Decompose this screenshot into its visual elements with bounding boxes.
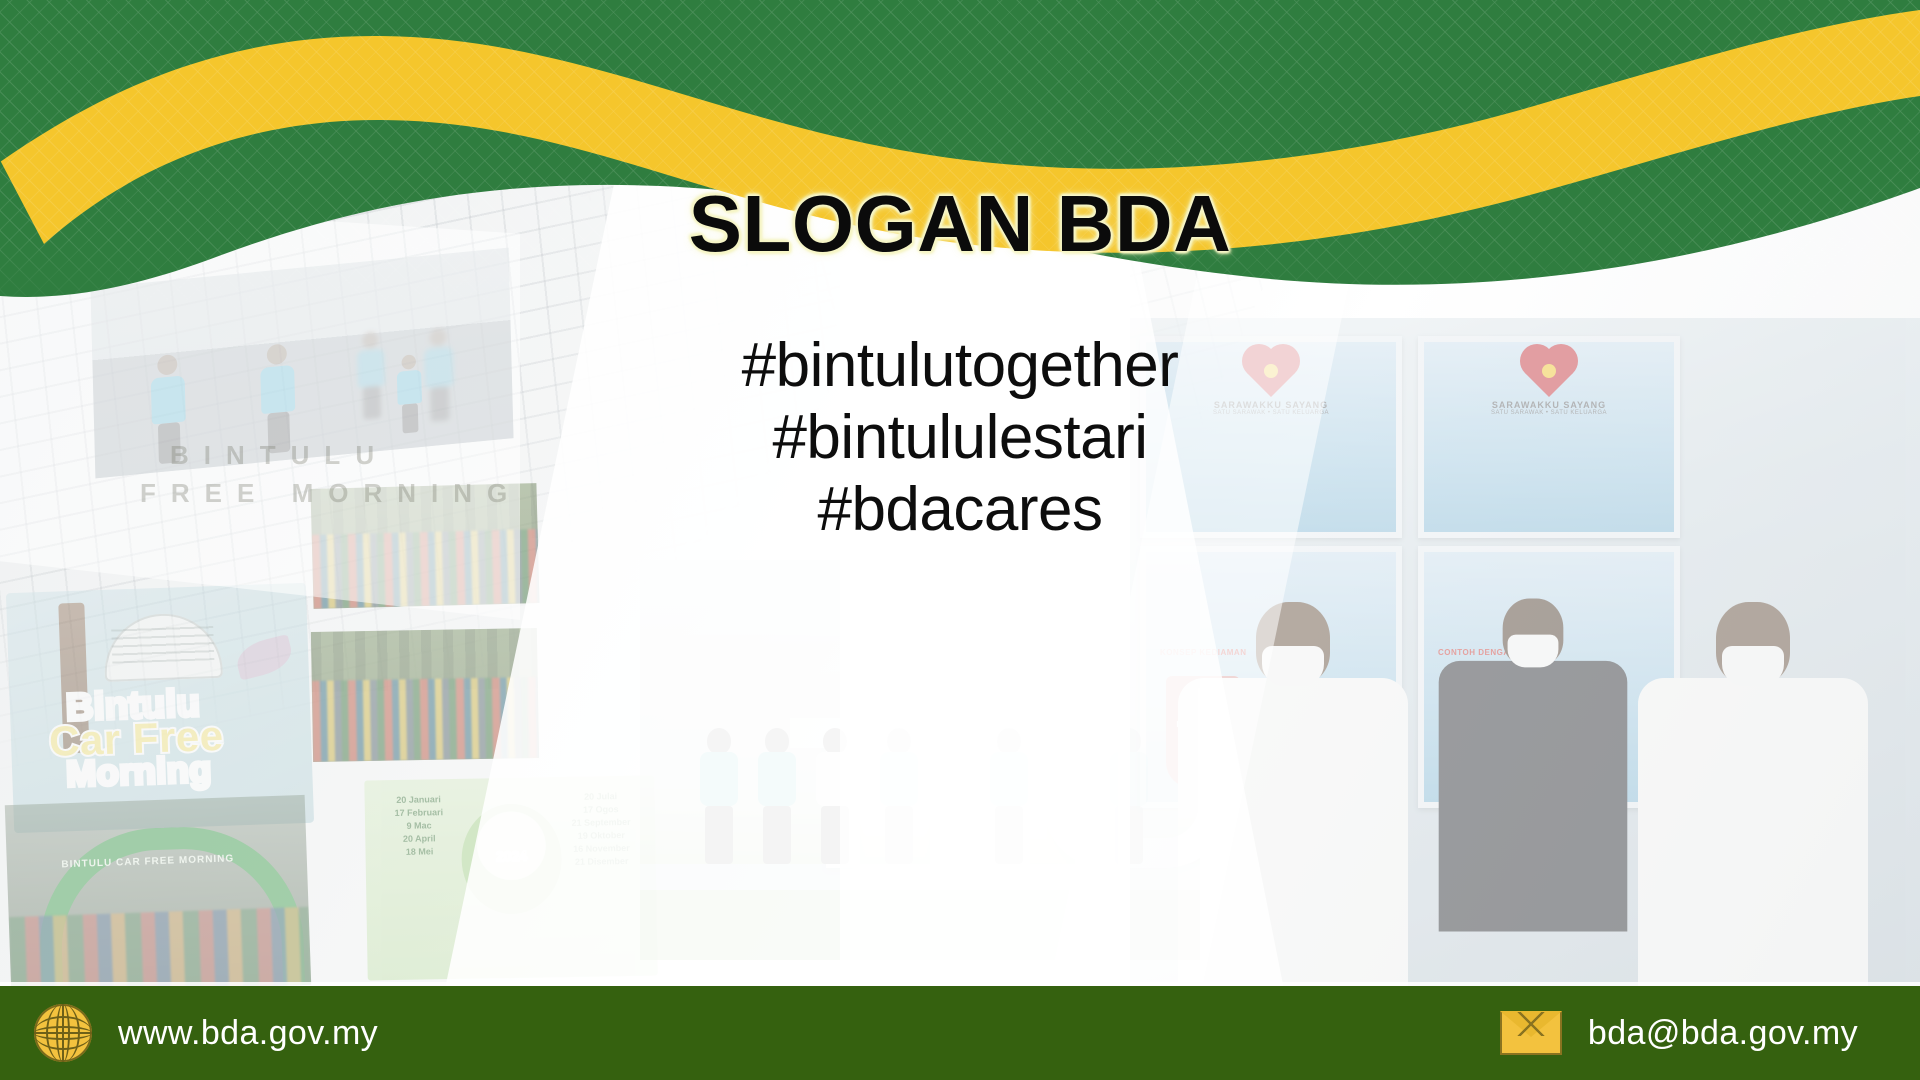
hashtag-item: #bdacares: [0, 474, 1920, 546]
hashtag-list: #bintulutogether #bintululestari #bdacar…: [0, 330, 1920, 546]
page-title: SLOGAN BDA: [0, 178, 1920, 270]
footer-website-group[interactable]: www.bda.gov.my: [34, 986, 378, 1080]
dome-illustration: [103, 612, 223, 682]
hashtag-item: #bintulutogether: [0, 330, 1920, 402]
official-figure: [1638, 602, 1868, 1008]
footer-email-text[interactable]: bda@bda.gov.my: [1588, 1014, 1858, 1053]
calendar-date: 20 April: [403, 833, 436, 844]
header-wave-banner: [0, 0, 1920, 330]
photographer-figure: [1439, 599, 1628, 932]
footer-bar: www.bda.gov.my bda@bda.gov.my: [0, 986, 1920, 1080]
calendar-date: 18 Mei: [406, 846, 434, 856]
photo-event-arch: BINTULU CAR FREE MORNING: [5, 795, 311, 995]
hornbill-illustration: [233, 634, 296, 681]
footer-website-text[interactable]: www.bda.gov.my: [118, 1014, 378, 1053]
cfm-logo-line3: Morning: [66, 748, 213, 795]
globe-icon: [34, 1004, 92, 1062]
calendar-date: 20 Januari: [396, 794, 441, 805]
calendar-date: 9 Mac: [406, 820, 431, 830]
envelope-icon: [1500, 1011, 1562, 1055]
wave-graphic: [0, 0, 1920, 330]
face-mask-icon: [1722, 646, 1784, 686]
hashtag-item: #bintululestari: [0, 402, 1920, 474]
calendar-dates-left: 20 Januari 17 Februari 9 Mac 20 April 18…: [371, 793, 468, 860]
calendar-date: 17 Februari: [394, 807, 443, 818]
poster-canvas: BINTULU FREE MORNING Bintulu Car Free Mo…: [0, 0, 1920, 1080]
footer-email-group[interactable]: bda@bda.gov.my: [1500, 986, 1858, 1080]
face-mask-icon: [1508, 635, 1559, 668]
